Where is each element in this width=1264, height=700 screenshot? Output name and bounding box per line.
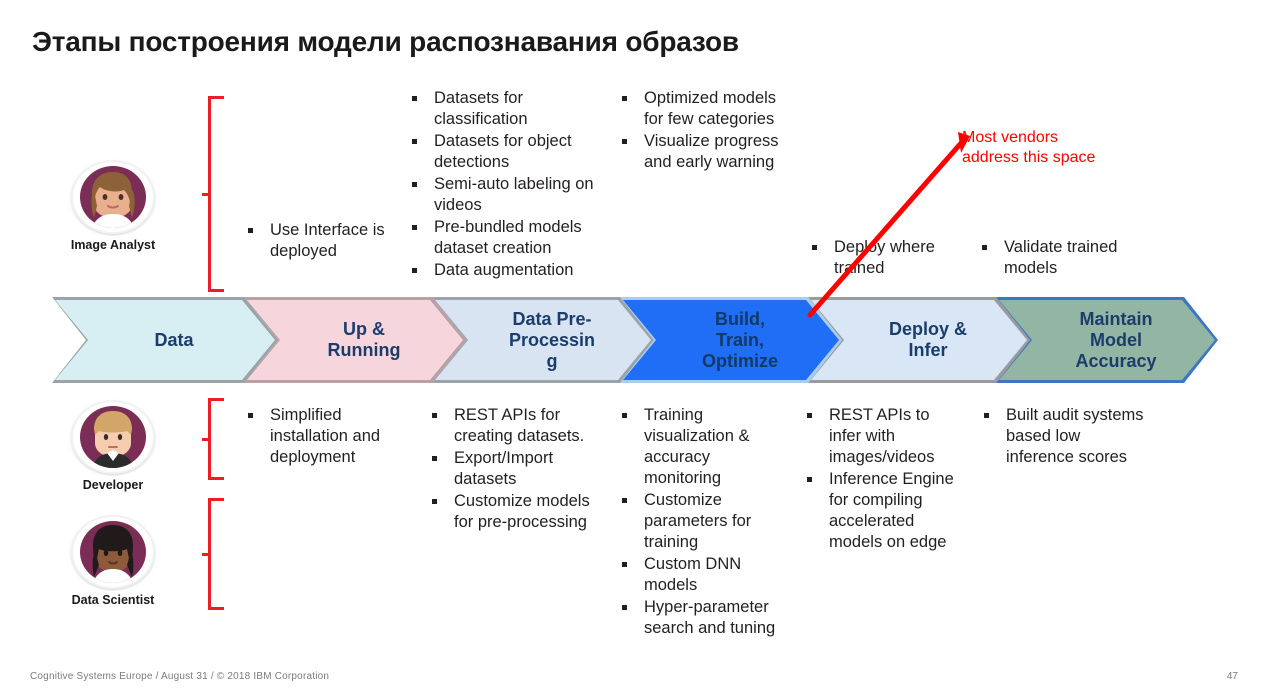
bullet-list: Deploy where trained <box>810 237 960 279</box>
list-item: Export/Import datasets <box>430 448 610 490</box>
list-item: Hyper-parameter search and tuning <box>620 597 790 639</box>
bottom-column-deploy-and-infer: REST APIs to infer with images/videos In… <box>805 405 965 554</box>
list-item: REST APIs for creating datasets. <box>430 405 610 447</box>
bullet-list: Training visualization & accuracy monito… <box>620 405 790 639</box>
stage-label: Maintain Model Accuracy <box>1057 309 1156 372</box>
top-column-maintain-model-accuracy: Validate trained models <box>980 237 1140 280</box>
stage-label: Build, Train, Optimize <box>684 309 778 372</box>
stage-label: Deploy & Infer <box>871 319 967 361</box>
persona-data-scientist: Data Scientist <box>38 515 188 607</box>
avatar-woman-dark-hair-icon <box>80 521 146 583</box>
page-title: Этапы построения модели распознавания об… <box>32 26 739 58</box>
avatar-woman-brown-hair-icon <box>80 166 146 228</box>
list-item: Data augmentation <box>410 260 610 281</box>
stage-chevron-data[interactable]: Data <box>52 297 278 383</box>
avatar <box>71 515 155 589</box>
bracket-developer <box>208 398 224 480</box>
bullet-list: Built audit systems based low inference … <box>982 405 1147 468</box>
list-item: Datasets for object detections <box>410 131 610 173</box>
bullet-list: Validate trained models <box>980 237 1140 279</box>
list-item: Custom DNN models <box>620 554 790 596</box>
list-item: Customize parameters for training <box>620 490 790 553</box>
process-chevron-band: Data Up & Running Data Pre- Processin g … <box>52 297 1182 383</box>
stage-label: Data <box>136 330 193 351</box>
list-item: Datasets for classification <box>410 88 610 130</box>
list-item: Inference Engine for compiling accelerat… <box>805 469 965 553</box>
top-column-data-pre-processing: Datasets for classification Datasets for… <box>410 88 610 282</box>
list-item: Built audit systems based low inference … <box>982 405 1147 468</box>
top-column-deploy-and-infer: Deploy where trained <box>810 237 960 280</box>
avatar <box>71 400 155 474</box>
bullet-list: Simplified installation and deployment <box>246 405 416 468</box>
list-item: Visualize progress and early warning <box>620 131 780 173</box>
persona-label: Data Scientist <box>38 593 188 607</box>
top-column-up-and-running: Use Interface is deployed <box>246 220 396 263</box>
list-item: Deploy where trained <box>810 237 960 279</box>
bottom-column-up-and-running: Simplified installation and deployment <box>246 405 416 469</box>
list-item: Use Interface is deployed <box>246 220 396 262</box>
list-item: REST APIs to infer with images/videos <box>805 405 965 468</box>
list-item: Training visualization & accuracy monito… <box>620 405 790 489</box>
annotation-label: Most vendors address this space <box>962 128 1095 168</box>
list-item: Customize models for pre-processing <box>430 491 610 533</box>
list-item: Simplified installation and deployment <box>246 405 416 468</box>
avatar <box>71 160 155 234</box>
list-item: Semi-auto labeling on videos <box>410 174 610 216</box>
bullet-list: REST APIs to infer with images/videos In… <box>805 405 965 553</box>
bottom-column-data-pre-processing: REST APIs for creating datasets. Export/… <box>430 405 610 534</box>
bullet-list: REST APIs for creating datasets. Export/… <box>430 405 610 533</box>
bullet-list: Use Interface is deployed <box>246 220 396 262</box>
bottom-column-maintain-model-accuracy: Built audit systems based low inference … <box>982 405 1147 469</box>
stage-label: Data Pre- Processin g <box>491 309 595 372</box>
list-item: Optimized models for few categories <box>620 88 780 130</box>
slide-canvas: Этапы построения модели распознавания об… <box>0 0 1264 700</box>
persona-label: Developer <box>38 478 188 492</box>
bullet-list: Datasets for classification Datasets for… <box>410 88 610 281</box>
page-number: 47 <box>1227 671 1238 682</box>
top-column-build-train-optimize: Optimized models for few categories Visu… <box>620 88 780 174</box>
bracket-data-scientist <box>208 498 224 610</box>
bullet-list: Optimized models for few categories Visu… <box>620 88 780 173</box>
stage-label: Up & Running <box>310 319 401 361</box>
bottom-column-build-train-optimize: Training visualization & accuracy monito… <box>620 405 790 640</box>
persona-image-analyst: Image Analyst <box>38 160 188 252</box>
list-item: Pre-bundled models dataset creation <box>410 217 610 259</box>
footer-text: Cognitive Systems Europe / August 31 / ©… <box>30 671 329 682</box>
bracket-image-analyst <box>208 96 224 292</box>
persona-developer: Developer <box>38 400 188 492</box>
avatar-man-blond-hair-icon <box>80 406 146 468</box>
list-item: Validate trained models <box>980 237 1140 279</box>
persona-label: Image Analyst <box>38 238 188 252</box>
